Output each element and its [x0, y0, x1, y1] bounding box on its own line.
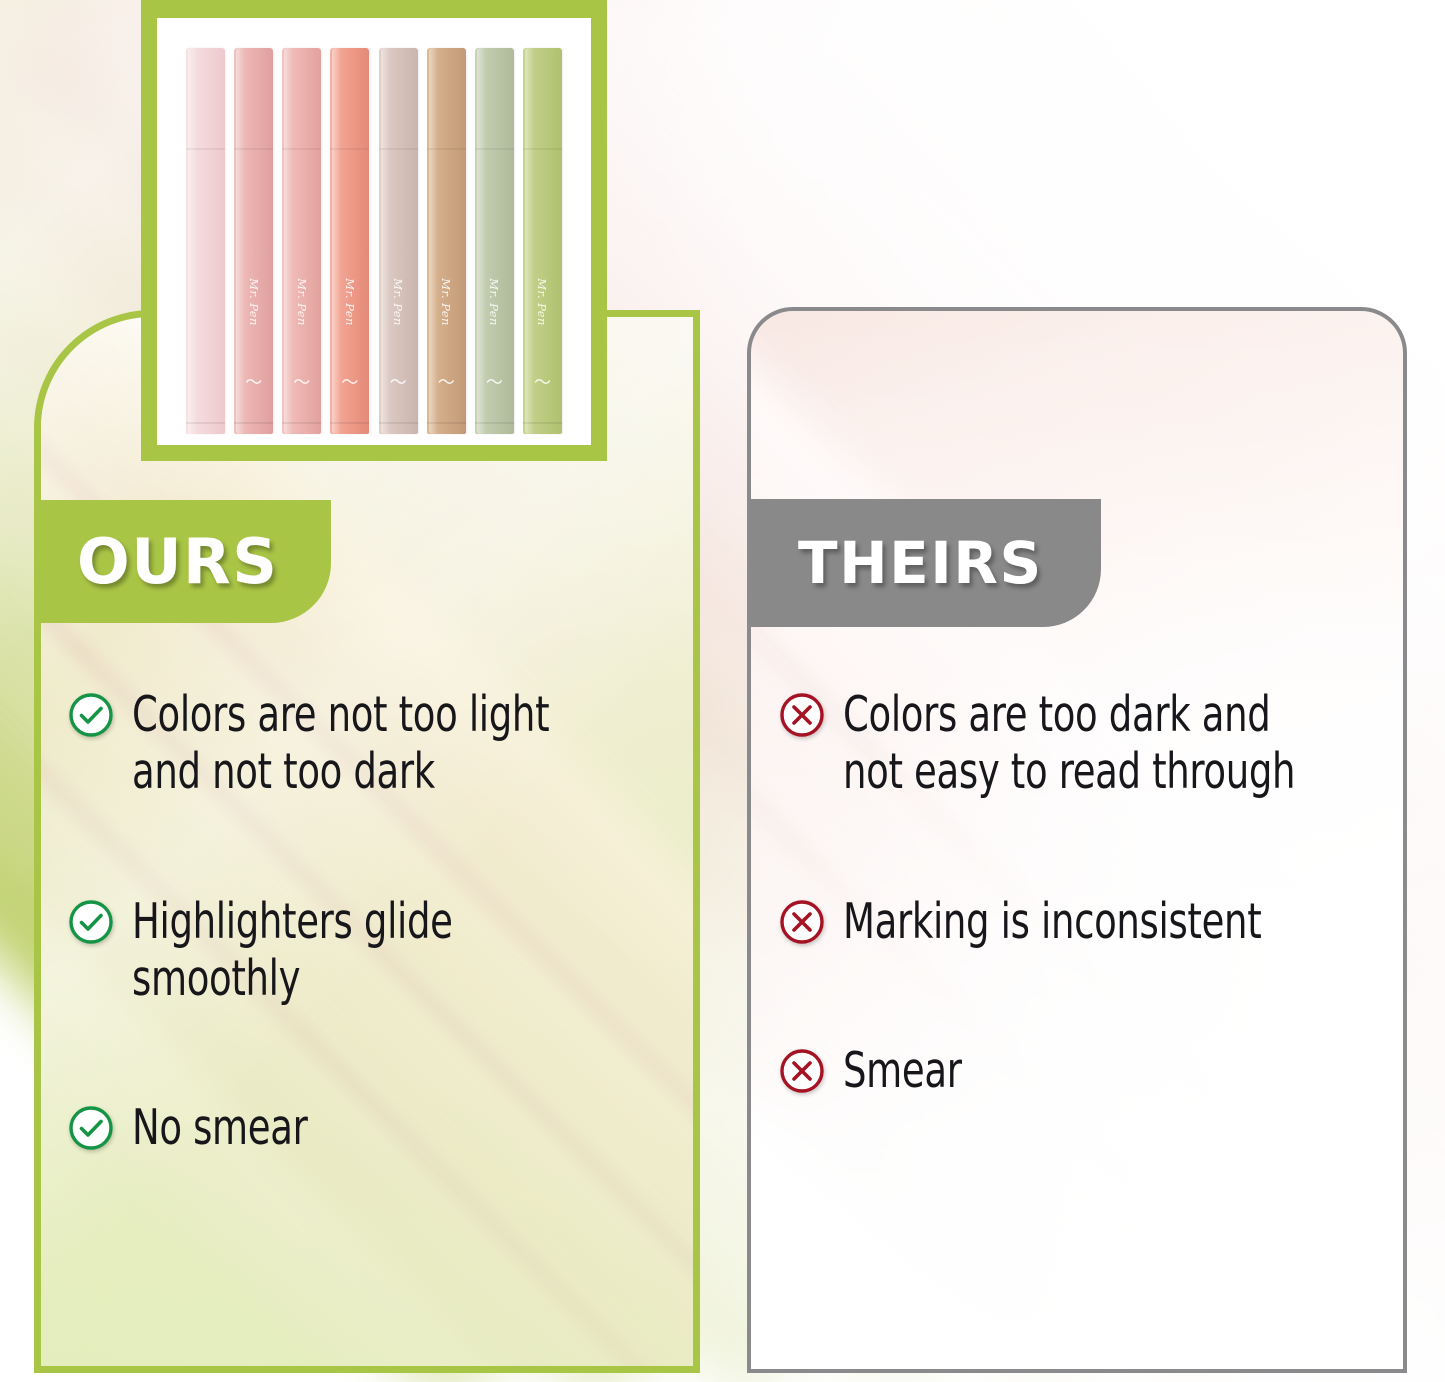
mustache-icon: 〜	[245, 375, 262, 392]
pen-rose-pink: Mr. Pen 〜	[234, 48, 273, 434]
list-item: Smear	[778, 1042, 1390, 1099]
ours-header-tag: OURS	[34, 500, 331, 623]
pen-brand-text: Mr. Pen	[295, 278, 309, 326]
theirs-label: THEIRS	[798, 534, 1043, 592]
list-item-label: No smear	[132, 1099, 590, 1156]
theirs-header-tag: THEIRS	[751, 499, 1101, 627]
infographic-canvas: Mr. Pen 〜 Mr. Pen 〜 Mr. Pen 〜 Mr. Pen 〜	[0, 0, 1445, 1382]
x-circle-icon	[778, 1047, 826, 1095]
pen-brand-text: Mr. Pen	[391, 278, 405, 326]
mustache-icon: 〜	[293, 375, 310, 392]
pen-blush-pink	[186, 48, 225, 434]
pen-taupe-rose: Mr. Pen 〜	[379, 48, 418, 434]
pen-olive-green: Mr. Pen 〜	[523, 48, 562, 434]
theirs-drawback-list: Colors are too dark and not easy to read…	[778, 686, 1390, 1099]
check-circle-icon	[67, 691, 115, 739]
mustache-icon: 〜	[486, 375, 503, 392]
list-item-label: Colors are not too light and not too dar…	[132, 686, 590, 801]
pen-brand-text: Mr. Pen	[535, 278, 549, 326]
pen-brand-text: Mr. Pen	[247, 278, 261, 326]
check-circle-icon	[67, 1104, 115, 1152]
check-circle-icon	[67, 898, 115, 946]
ours-label: OURS	[77, 531, 278, 593]
list-item: Marking is inconsistent	[778, 893, 1390, 950]
list-item-label: Smear	[843, 1042, 1302, 1099]
pen-sage-green: Mr. Pen 〜	[475, 48, 514, 434]
mustache-icon: 〜	[438, 375, 455, 392]
ours-benefit-list: Colors are not too light and not too dar…	[67, 686, 677, 1157]
list-item: Colors are not too light and not too dar…	[67, 686, 677, 801]
mustache-icon: 〜	[390, 375, 407, 392]
x-circle-icon	[778, 898, 826, 946]
pen-brand-text: Mr. Pen	[487, 278, 501, 326]
list-item-label: Highlighters glide smoothly	[132, 893, 590, 1008]
pen-brand-text: Mr. Pen	[343, 278, 357, 326]
list-item-label: Marking is inconsistent	[843, 893, 1302, 950]
product-photo-image: Mr. Pen 〜 Mr. Pen 〜 Mr. Pen 〜 Mr. Pen 〜	[157, 18, 591, 445]
product-photo-frame: Mr. Pen 〜 Mr. Pen 〜 Mr. Pen 〜 Mr. Pen 〜	[141, 0, 607, 461]
list-item: No smear	[67, 1099, 677, 1156]
pen-tan: Mr. Pen 〜	[427, 48, 466, 434]
list-item: Highlighters glide smoothly	[67, 893, 677, 1008]
pen-salmon-pink: Mr. Pen 〜	[282, 48, 321, 434]
pen-coral: Mr. Pen 〜	[330, 48, 369, 434]
pen-brand-text: Mr. Pen	[439, 278, 453, 326]
list-item-label: Colors are too dark and not easy to read…	[843, 686, 1302, 801]
list-item: Colors are too dark and not easy to read…	[778, 686, 1390, 801]
x-circle-icon	[778, 691, 826, 739]
highlighter-pen-row: Mr. Pen 〜 Mr. Pen 〜 Mr. Pen 〜 Mr. Pen 〜	[157, 48, 591, 434]
mustache-icon: 〜	[341, 375, 358, 392]
mustache-icon: 〜	[534, 375, 551, 392]
